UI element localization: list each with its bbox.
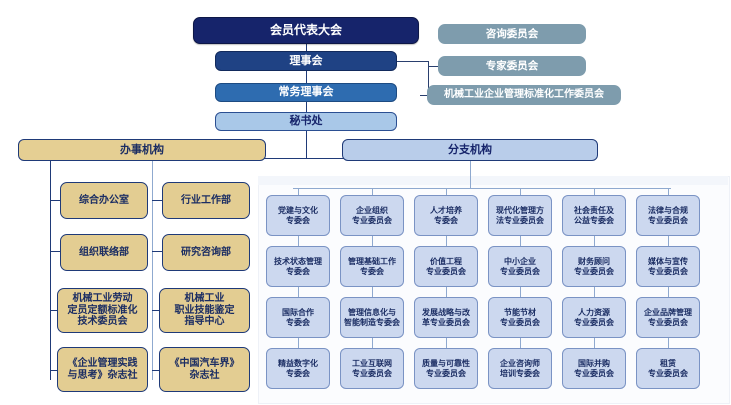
connector-standing-secretariat [306,102,307,112]
committee-label: 人力资源 专业委员会 [572,308,616,328]
committee-label: 工业互联网 专业委员会 [350,359,394,379]
connector-column-6-drop [668,188,669,195]
committee-cell[interactable]: 发展战略与改 革专业委员会 [414,297,478,338]
connector-column-6-seg-1 [668,236,669,246]
committee-cell[interactable]: 中小企业 专业委员会 [488,246,552,287]
committee-cell[interactable]: 党建与文化 专委会 [266,195,330,236]
committee-cell[interactable]: 企业品牌管理 专业委员会 [636,297,700,338]
connector-column-5-seg-3 [594,338,595,348]
node-council[interactable]: 理事会 [215,51,397,71]
committee-label: 租赁 专业委员会 [646,359,690,379]
connector-column-5-seg-2 [594,287,595,297]
committee-label: 企业品牌管理 专业委员会 [642,308,694,328]
node-administrative-bodies[interactable]: 办事机构 [18,139,266,161]
committee-cell[interactable]: 国际并购 专业委员会 [562,348,626,389]
connector-column-1-seg-3 [298,338,299,348]
dept-labor-quota-committee[interactable]: 机械工业劳动 定员定额标准化 技术委员会 [57,288,148,333]
committee-cell[interactable]: 价值工程 专业委员会 [414,246,478,287]
connector-column-2-drop [372,188,373,195]
connector-column-5-drop [594,188,595,195]
committee-label: 技术状态管理 专委会 [272,257,324,277]
node-expert-committee[interactable]: 专家委员会 [438,56,586,76]
connector-council-standing [306,71,307,83]
committee-label: 企业组织 专业委员会 [350,206,394,226]
connector-council-right [397,61,429,62]
connector-column-4-drop [520,188,521,195]
committee-label: 企业咨询师 培训专委会 [498,359,542,379]
connector-column-6-seg-3 [668,338,669,348]
connector-column-3-seg-3 [446,338,447,348]
committee-cell[interactable]: 媒体与宣传 专业委员会 [636,246,700,287]
committee-cell[interactable]: 人才培养 专委会 [414,195,478,236]
node-secretariat[interactable]: 秘书处 [215,112,397,131]
committee-cell[interactable]: 管理信息化与 智能制造专委会 [340,297,404,338]
committee-label: 价值工程 专业委员会 [424,257,468,277]
dept-organization-liaison[interactable]: 组织联络部 [60,234,148,271]
dept-vocational-skill-center[interactable]: 机械工业 职业技能鉴定 指导中心 [159,288,250,333]
connector-column-2-seg-3 [372,338,373,348]
connector-column-2-seg-1 [372,236,373,246]
committee-cell[interactable]: 工业互联网 专业委员会 [340,348,404,389]
connector-column-1-drop [298,188,299,195]
committee-cell[interactable]: 租赁 专业委员会 [636,348,700,389]
committee-label: 现代化管理方 法专业委员会 [494,206,546,226]
dept-industry-work[interactable]: 行业工作部 [162,182,250,219]
rail-dept-col2 [152,161,153,380]
dept-enterprise-management-journal[interactable]: 《企业管理实践 与思考》杂志社 [57,347,148,392]
node-member-congress[interactable]: 会员代表大会 [193,17,419,44]
committee-cell[interactable]: 法律与合规 专业委员会 [636,195,700,236]
committee-cell[interactable]: 财务顾问 专业委员会 [562,246,626,287]
committee-label: 媒体与宣传 专业委员会 [646,257,690,277]
committee-label: 财务顾问 专业委员会 [572,257,616,277]
committee-label: 中小企业 专业委员会 [498,257,542,277]
committee-label: 管理基础工作 专委会 [346,257,398,277]
connector-column-3-seg-1 [446,236,447,246]
committee-label: 法律与合规 专业委员会 [646,206,690,226]
committee-cell[interactable]: 技术状态管理 专委会 [266,246,330,287]
dept-china-auto-journal[interactable]: 《中国汽车界》 杂志社 [159,347,250,392]
committee-label: 国际并购 专业委员会 [572,359,616,379]
dept-general-office[interactable]: 综合办公室 [60,182,148,219]
committee-label: 党建与文化 专委会 [276,206,320,226]
committee-label: 质量与可靠性 专业委员会 [420,359,472,379]
node-standing-council[interactable]: 常务理事会 [215,83,397,102]
tick-dept-2-2 [152,251,162,252]
connector-column-4-seg-2 [520,287,521,297]
connector-branch-trunk [470,161,471,188]
committee-grid-panel-header [258,176,728,185]
connector-column-1-seg-1 [298,236,299,246]
connector-column-6-seg-2 [668,287,669,297]
committee-cell[interactable]: 企业咨询师 培训专委会 [488,348,552,389]
connector-column-2-seg-2 [372,287,373,297]
node-advisory-committee[interactable]: 咨询委员会 [438,24,586,44]
tick-dept-1-1 [50,200,60,201]
tick-dept-1-2 [50,251,60,252]
committee-cell[interactable]: 企业组织 专业委员会 [340,195,404,236]
committee-cell[interactable]: 管理基础工作 专委会 [340,246,404,287]
committee-cell[interactable]: 国际合作 专委会 [266,297,330,338]
connector-column-3-drop [446,188,447,195]
committee-cell[interactable]: 现代化管理方 法专业委员会 [488,195,552,236]
committee-cell[interactable]: 质量与可靠性 专业委员会 [414,348,478,389]
connector-column-4-seg-1 [520,236,521,246]
node-standardization-committee[interactable]: 机械工业企业管理标准化工作委员会 [427,85,621,105]
org-chart: 会员代表大会 理事会 常务理事会 秘书处 咨询委员会 专家委员会 机械工业企业管… [0,0,731,405]
connector-column-4-seg-3 [520,338,521,348]
bus-committee-columns [293,188,671,189]
connector-congress-council [306,44,307,51]
connector-column-3-seg-2 [446,287,447,297]
committee-label: 社会责任及 公益专委会 [572,206,616,226]
connector-column-5-seg-1 [594,236,595,246]
dept-research-consulting[interactable]: 研究咨询部 [162,234,250,271]
committee-cell[interactable]: 社会责任及 公益专委会 [562,195,626,236]
committee-label: 节能节材 专业委员会 [498,308,542,328]
committee-cell[interactable]: 精益数字化 专委会 [266,348,330,389]
committee-cell[interactable]: 人力资源 专业委员会 [562,297,626,338]
committee-label: 发展战略与改 革专业委员会 [420,308,472,328]
committee-label: 国际合作 专委会 [280,308,316,328]
node-branch-bodies[interactable]: 分支机构 [342,139,598,161]
committee-cell[interactable]: 节能节材 专业委员会 [488,297,552,338]
committee-label: 人才培养 专委会 [428,206,464,226]
connector-column-1-seg-2 [298,287,299,297]
committee-label: 精益数字化 专委会 [276,359,320,379]
connector-secretariat-down [306,131,307,158]
tick-dept-2-1 [152,200,162,201]
committee-label: 管理信息化与 智能制造专委会 [342,308,402,328]
rail-dept-col1 [50,161,51,380]
